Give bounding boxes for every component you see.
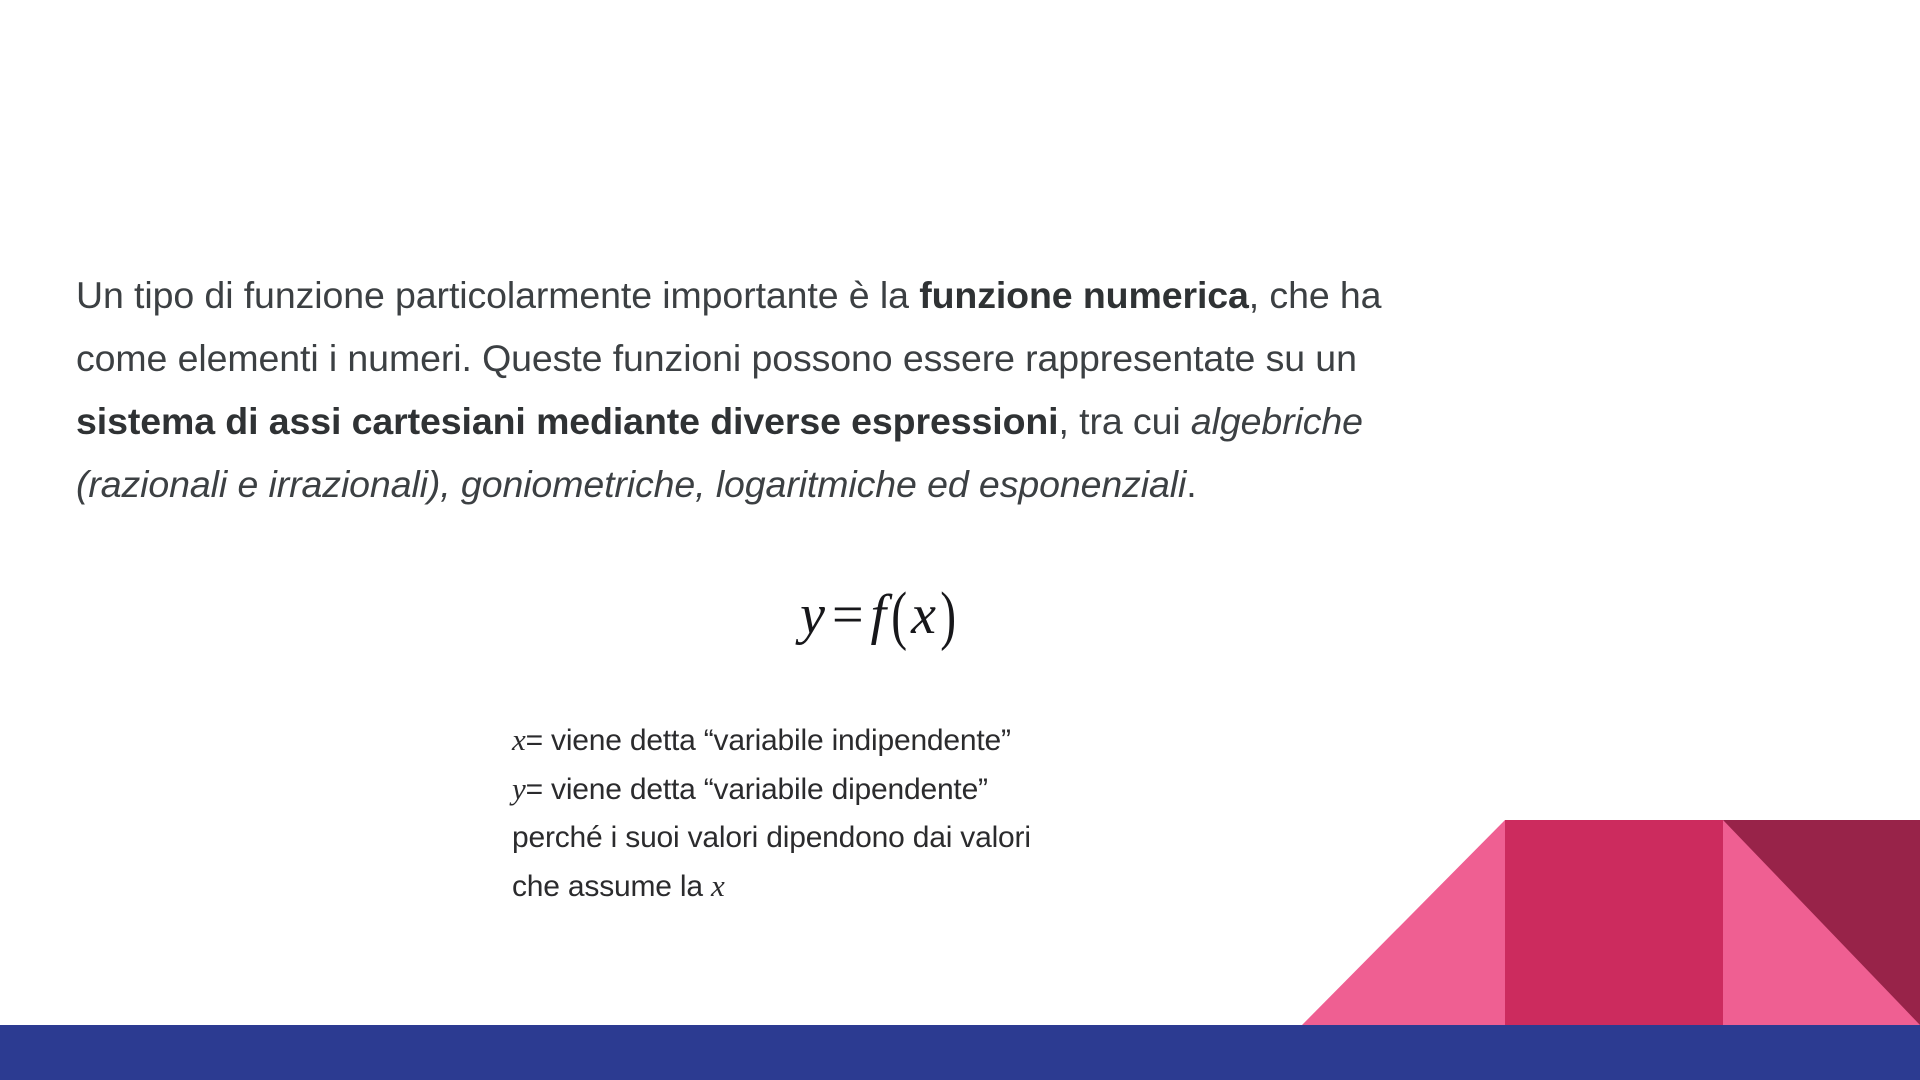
explanation-trailing-var-x: x [711,868,725,903]
formula-left-variable: y [800,584,826,646]
explanation-text-reason: perché i suoi valori dipendono dai valor… [512,821,1031,854]
formula-function-name: f [871,584,888,646]
explanation-line-x: x= viene detta “variabile indipendente” [512,716,1332,765]
paragraph-seg-6: . [1186,463,1196,505]
corner-decoration-graphic [0,0,1920,1080]
explanation-var-y: y [512,771,526,806]
paragraph-seg-4: , tra cui [1059,400,1191,442]
paragraph-seg-0: Un tipo di funzione particolarmente impo… [76,274,919,316]
explanation-text-y: = viene detta “variabile dipendente” [526,773,988,806]
formula-explanation-block: x= viene detta “variabile indipendente” … [512,716,1332,911]
decor-right-pink-wedge [1723,820,1920,1025]
slide-canvas: Un tipo di funzione particolarmente impo… [0,0,1920,1080]
formula-equals-sign: = [832,584,865,646]
decor-left-pink-trapezoid [1302,820,1505,1025]
formula-container: y=f(x) [0,578,1760,654]
formula-close-paren: ) [940,578,957,654]
paragraph-seg-1-bold: funzione numerica [919,274,1249,316]
decor-center-crimson-rect [1505,820,1723,1025]
explanation-var-x: x [512,722,526,757]
explanation-text-x: = viene detta “variabile indipendente” [526,724,1011,757]
decor-right-maroon-rect [1723,820,1920,1025]
explanation-text-assume: che assume la [512,870,711,903]
formula-argument: x [911,584,937,646]
formula-open-paren: ( [891,578,908,654]
explanation-line-reason: perché i suoi valori dipendono dai valor… [512,814,1332,862]
explanation-line-assume: che assume la x [512,862,1332,911]
body-paragraph: Un tipo di funzione particolarmente impo… [76,264,1476,516]
function-formula: y=f(x) [800,578,960,654]
explanation-line-y: y= viene detta “variabile dipendente” [512,765,1332,814]
paragraph-seg-3-bold: sistema di assi cartesiani mediante dive… [76,400,1059,442]
bottom-accent-band [0,1025,1920,1080]
